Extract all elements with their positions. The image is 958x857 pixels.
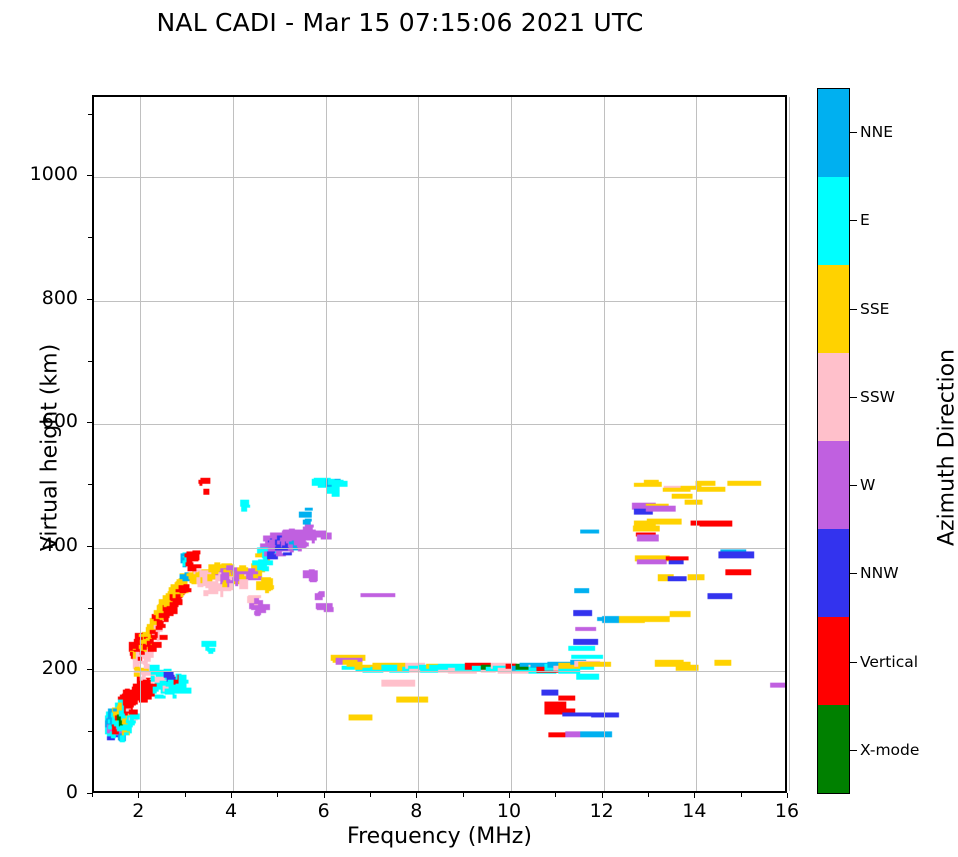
colorbar-tick [850,132,857,133]
x-tick-10 [509,793,510,798]
colorbar-tick [850,573,857,574]
colorbar-label-vertical: Vertical [860,653,918,671]
colorbar-label-w: W [860,476,875,494]
colorbar-band-w [818,441,849,529]
y-tick-label-800: 800 [0,287,78,309]
x-tick-12 [602,793,603,798]
colorbar-band-e [818,177,849,265]
y-minor-tick [88,731,92,732]
x-tick-label-2: 2 [108,800,168,822]
gridline-vertical-12 [604,97,605,791]
x-tick-8 [416,793,417,798]
ionogram-plot-area [92,95,787,793]
gridline-horizontal-200 [94,671,785,672]
gridline-vertical-8 [418,97,419,791]
x-minor-tick [370,793,371,797]
x-minor-tick [277,793,278,797]
x-minor-tick [463,793,464,797]
azimuth-colorbar [817,88,850,794]
x-tick-label-16: 16 [757,800,817,822]
y-tick-400 [87,546,92,547]
x-minor-tick [741,793,742,797]
x-tick-4 [231,793,232,798]
gridline-vertical-2 [140,97,141,791]
y-axis-title: Virtual height (km) [38,318,63,578]
gridline-horizontal-1000 [94,177,785,178]
colorbar-tick [850,309,857,310]
x-tick-2 [138,793,139,798]
gridline-vertical-16 [789,97,790,791]
y-tick-label-1000: 1000 [0,163,78,185]
y-minor-tick [88,361,92,362]
gridline-horizontal-800 [94,301,785,302]
y-minor-tick [88,114,92,115]
colorbar-tick [850,485,857,486]
y-minor-tick [88,484,92,485]
colorbar-label-sse: SSE [860,300,889,318]
y-tick-1000 [87,175,92,176]
x-tick-label-12: 12 [572,800,632,822]
colorbar-band-vertical [818,617,849,705]
x-minor-tick [555,793,556,797]
colorbar-label-nne: NNE [860,123,893,141]
y-tick-label-0: 0 [0,781,78,803]
colorbar-title: Azimuth Direction [935,298,958,598]
colorbar-label-nnw: NNW [860,564,899,582]
colorbar-band-ssw [818,353,849,441]
colorbar-tick [850,662,857,663]
gridline-horizontal-600 [94,424,785,425]
page-title: NAL CADI - Mar 15 07:15:06 2021 UTC [0,8,800,37]
gridline-vertical-6 [326,97,327,791]
x-tick-label-14: 14 [664,800,724,822]
x-minor-tick [185,793,186,797]
colorbar-band-sse [818,265,849,353]
y-tick-800 [87,299,92,300]
colorbar-band-x-mode [818,705,849,793]
y-minor-tick [88,608,92,609]
colorbar-label-e: E [860,211,870,229]
colorbar-label-x-mode: X-mode [860,741,919,759]
colorbar-band-nne [818,89,849,177]
x-tick-6 [324,793,325,798]
x-tick-16 [787,793,788,798]
x-tick-label-6: 6 [294,800,354,822]
ionogram-scatter-canvas [94,97,785,791]
x-tick-14 [694,793,695,798]
gridline-vertical-10 [511,97,512,791]
y-minor-tick [88,237,92,238]
colorbar-tick [850,220,857,221]
y-tick-200 [87,669,92,670]
colorbar-tick [850,397,857,398]
y-tick-label-200: 200 [0,657,78,679]
y-tick-600 [87,422,92,423]
colorbar-label-ssw: SSW [860,388,895,406]
x-tick-label-4: 4 [201,800,261,822]
x-tick-label-8: 8 [386,800,446,822]
colorbar-band-nnw [818,529,849,617]
colorbar-tick [850,750,857,751]
x-minor-tick [648,793,649,797]
x-axis-title: Frequency (MHz) [92,824,787,849]
y-tick-0 [87,793,92,794]
x-tick-label-10: 10 [479,800,539,822]
gridline-vertical-14 [696,97,697,791]
gridline-horizontal-400 [94,548,785,549]
gridline-vertical-4 [233,97,234,791]
x-minor-tick [92,793,93,797]
